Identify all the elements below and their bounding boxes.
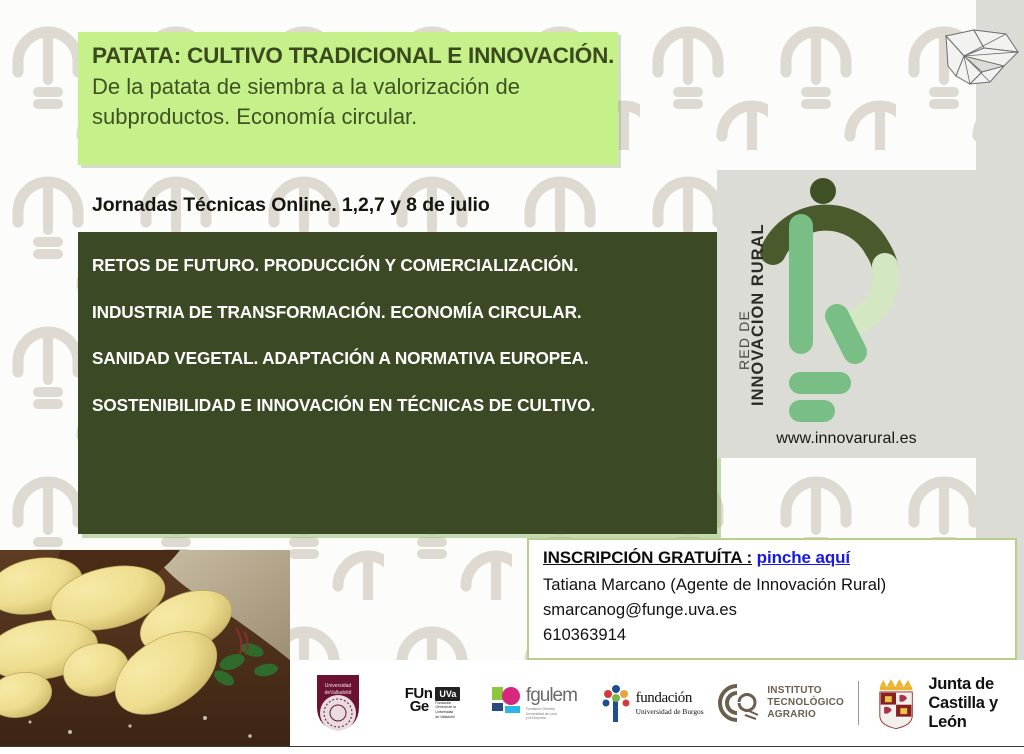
sponsor-logo-jcyl: Junta de Castilla y León: [873, 672, 1024, 734]
sponsor-logo-ita: INSTITUTOTECNOLÓGICOAGRARIO: [714, 682, 844, 724]
ita-wordmark: INSTITUTOTECNOLÓGICOAGRARIO: [767, 685, 844, 721]
poster-title-subtitle: De la patata de siembra a la valorizació…: [92, 72, 604, 132]
contact-email[interactable]: smarcanog@funge.uva.es: [543, 597, 1015, 622]
innovarural-lightbulb-logo-icon: RED DE INNOVACION RURAL: [727, 174, 966, 422]
funge-wordmark: FUnGe: [405, 687, 433, 713]
event-date-line: Jornadas Técnicas Online. 1,2,7 y 8 de j…: [92, 194, 490, 217]
logo-vertical-label-big: INNOVACION RURAL: [749, 223, 767, 406]
sponsor-logo-fgulem: fgulem Fundación GeneralUniversidad de L…: [479, 685, 589, 720]
inscription-box: INSCRIPCIÓN GRATUÍTA : pinche aquí Tatia…: [527, 538, 1017, 660]
jcyl-line2: Castilla y León: [928, 694, 1024, 732]
topic-item-4: SOSTENIBILIDAD E INNOVACIÓN EN TÉCNICAS …: [92, 394, 699, 418]
funge-uva-badge: UVa: [435, 687, 460, 701]
ita-spiral-icon: [714, 682, 762, 724]
inscription-heading-label: INSCRIPCIÓN GRATUÍTA :: [543, 548, 752, 567]
ubu-wordmark: fundación: [636, 690, 704, 707]
uva-shield-line2: deValladolid: [325, 690, 352, 696]
contact-name: Tatiana Marcano (Agente de Innovación Ru…: [543, 572, 1015, 597]
topic-item-3: SANIDAD VEGETAL. ADAPTACIÓN A NORMATIVA …: [92, 347, 699, 371]
jcyl-wordmark: Junta de Castilla y León: [928, 675, 1024, 732]
funge-subtitle: FundaciónGeneral de laUniversidadde Vall…: [435, 701, 460, 719]
sponsor-logo-ubu: fundación Universidad de Burgos: [589, 684, 714, 722]
sponsor-logo-uva: Universidad deValladolid: [290, 673, 386, 733]
topic-item-1: RETOS DE FUTURO. PRODUCCIÓN Y COMERCIALI…: [92, 254, 699, 278]
poster-title-box: PATATA: CULTIVO TRADICIONAL E INNOVACIÓN…: [78, 32, 618, 165]
inscription-heading: INSCRIPCIÓN GRATUÍTA : pinche aquí: [543, 548, 1015, 568]
bottom-border-bar: [0, 746, 1024, 754]
innovarural-url: www.innovarural.es: [717, 430, 976, 448]
fgulem-mark-icon: [491, 686, 521, 720]
poster-root: PATATA: CULTIVO TRADICIONAL E INNOVACIÓN…: [0, 0, 1024, 754]
potato-photo: [0, 550, 290, 746]
jcyl-line1: Junta de: [928, 675, 1024, 694]
innovarural-logo-panel: RED DE INNOVACION RURAL www.innovarural.…: [717, 170, 976, 458]
ubu-tree-icon: [600, 684, 632, 722]
ubu-subtitle: Universidad de Burgos: [636, 707, 704, 716]
fgulem-subtitle: Fundación GeneralUniversidad de Leóny la…: [526, 707, 577, 720]
jcyl-coat-of-arms-icon: [873, 672, 923, 734]
topics-panel: RETOS DE FUTURO. PRODUCCIÓN Y COMERCIALI…: [78, 232, 717, 534]
logo-divider: [858, 681, 859, 725]
origami-decoration-icon: [944, 26, 1020, 90]
contact-phone: 610363914: [543, 622, 1015, 647]
sponsor-logo-funge: FUnGe UVa FundaciónGeneral de laUniversi…: [386, 687, 479, 719]
uva-shield-line1: Universidad: [325, 683, 352, 689]
uva-shield-icon: Universidad deValladolid: [315, 673, 361, 733]
topic-item-2: INDUSTRIA DE TRANSFORMACIÓN. ECONOMÍA CI…: [92, 301, 699, 325]
inscription-signup-link[interactable]: pinche aquí: [757, 548, 850, 567]
fgulem-wordmark: fgulem: [526, 685, 577, 707]
poster-title-primary: PATATA: CULTIVO TRADICIONAL E INNOVACIÓN…: [92, 42, 604, 69]
sponsor-logo-strip: Universidad deValladolid FUnGe UVa Funda…: [290, 660, 1024, 746]
